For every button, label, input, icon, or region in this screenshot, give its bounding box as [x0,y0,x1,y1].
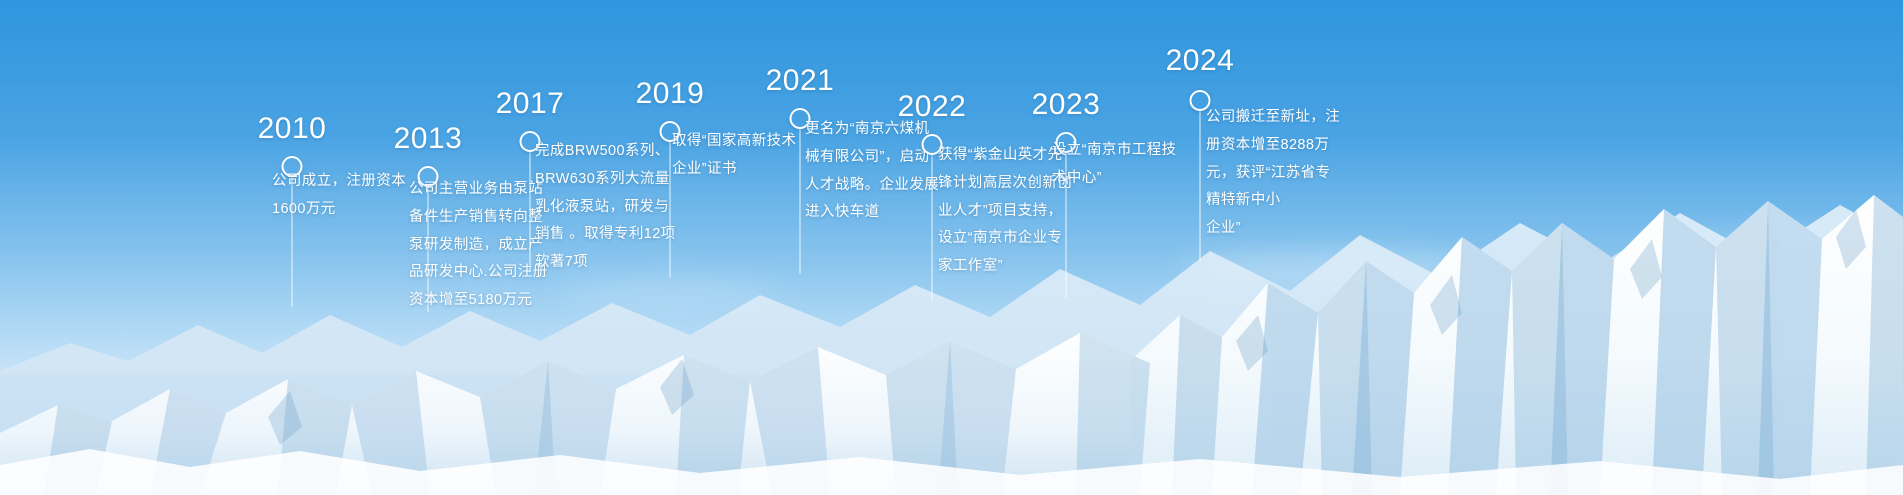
company-history-timeline: 2010公司成立，注册资本 1600万元2013公司主营业务由泵站 备件生产销售… [0,0,1903,495]
timeline-connector-line [1200,111,1201,261]
timeline-year-label: 2019 [636,77,705,111]
timeline-connector-line [932,155,933,300]
timeline-connector-line [530,152,531,272]
timeline-year-label: 2022 [898,90,967,124]
timeline-description: 公司搬迁至新址，注 册资本增至8288万 元，获评“江苏省专 精特新中小 企业” [1206,104,1384,243]
timeline-connector-line [800,129,801,274]
timeline-year-label: 2010 [258,112,327,146]
timeline-year-label: 2017 [496,87,565,121]
timeline-year-label: 2013 [394,122,463,156]
timeline-description: 设立“南京市工程技 术中心” [1052,137,1227,193]
timeline-year-label: 2023 [1032,88,1101,122]
timeline-year-label: 2024 [1166,44,1235,78]
timeline-infographic: 2010公司成立，注册资本 1600万元2013公司主营业务由泵站 备件生产销售… [0,0,1903,495]
timeline-connector-line [670,142,671,277]
timeline-year-label: 2021 [766,64,835,98]
